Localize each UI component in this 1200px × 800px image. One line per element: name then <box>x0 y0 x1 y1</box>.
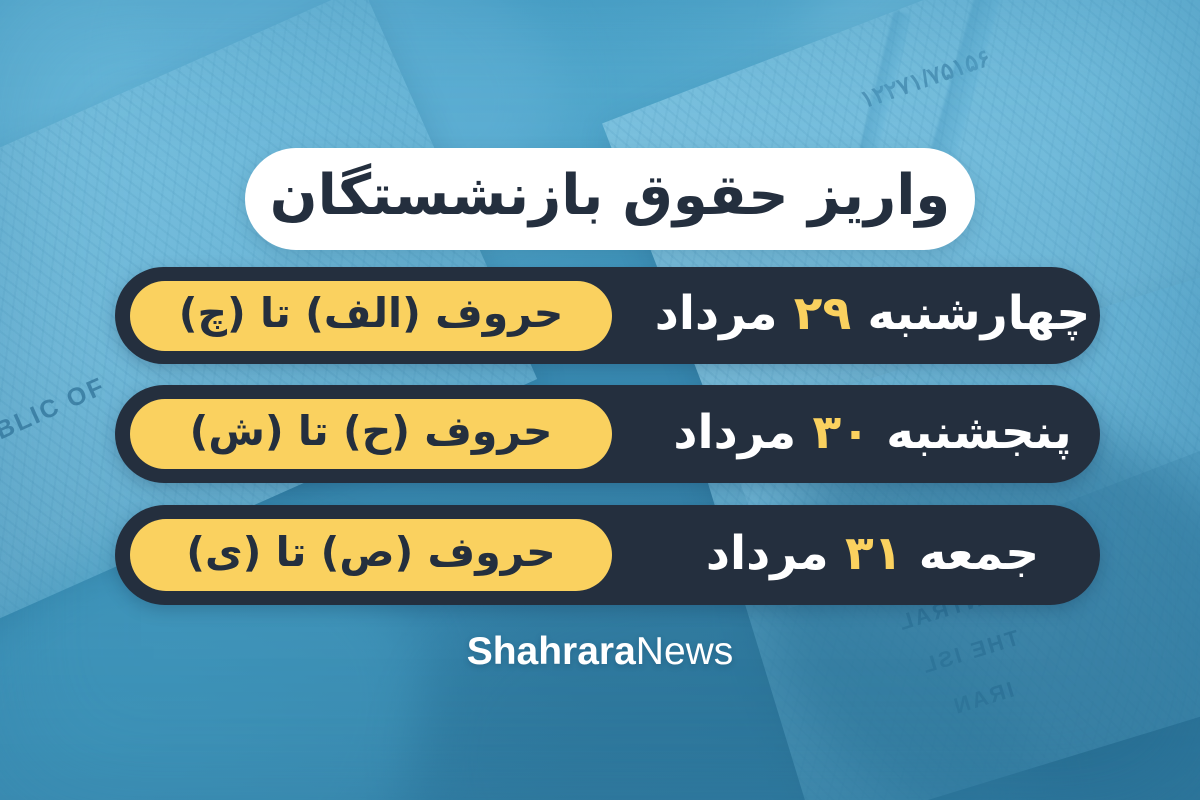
schedule-row: چهارشنبه ۲۹ مرداد حروف (الف) تا (چ) <box>115 267 1100 364</box>
schedule-row-weekday: چهارشنبه <box>868 286 1091 341</box>
schedule-row-letters-badge: حروف (الف) تا (چ) <box>130 281 612 351</box>
schedule-row-day: ۳۰ <box>812 405 869 460</box>
poster-canvas: ۱۲۲۷۱/۷۵۱۵۶ CENTRAL THE ISL IRAN AL BANK… <box>0 0 1200 800</box>
schedule-row-day: ۲۹ <box>794 286 851 341</box>
schedule-row-date: جمعه ۳۱ مرداد <box>645 530 1100 581</box>
schedule-row-letters-badge: حروف (ص) تا (ی) <box>130 519 612 591</box>
schedule-row: جمعه ۳۱ مرداد حروف (ص) تا (ی) <box>115 505 1100 605</box>
schedule-row-letters: حروف (ح) تا (ش) <box>190 411 553 457</box>
schedule-row-letters-badge: حروف (ح) تا (ش) <box>130 399 612 469</box>
brand-logo: ShahraraNews <box>0 632 1200 671</box>
schedule-row-month: مرداد <box>655 286 778 341</box>
schedule-row-date: پنجشنبه ۳۰ مرداد <box>645 409 1100 460</box>
schedule-row-weekday: جمعه <box>919 526 1039 581</box>
schedule-row-day: ۳۱ <box>845 526 902 581</box>
schedule-row-month: مرداد <box>673 405 796 460</box>
schedule-row: پنجشنبه ۳۰ مرداد حروف (ح) تا (ش) <box>115 385 1100 483</box>
schedule-row-letters: حروف (ص) تا (ی) <box>186 532 555 578</box>
schedule-row-weekday: پنجشنبه <box>886 405 1071 460</box>
brand-name-primary: Shahrara <box>467 630 636 673</box>
page-title: واریز حقوق بازنشستگان <box>270 168 950 230</box>
schedule-row-month: مرداد <box>706 526 829 581</box>
brand-name-secondary: News <box>636 630 734 673</box>
schedule-row-letters: حروف (الف) تا (چ) <box>179 293 564 339</box>
title-banner: واریز حقوق بازنشستگان <box>245 148 975 250</box>
poster-content: واریز حقوق بازنشستگان چهارشنبه ۲۹ مرداد … <box>0 0 1200 800</box>
schedule-row-date: چهارشنبه ۲۹ مرداد <box>645 290 1100 341</box>
